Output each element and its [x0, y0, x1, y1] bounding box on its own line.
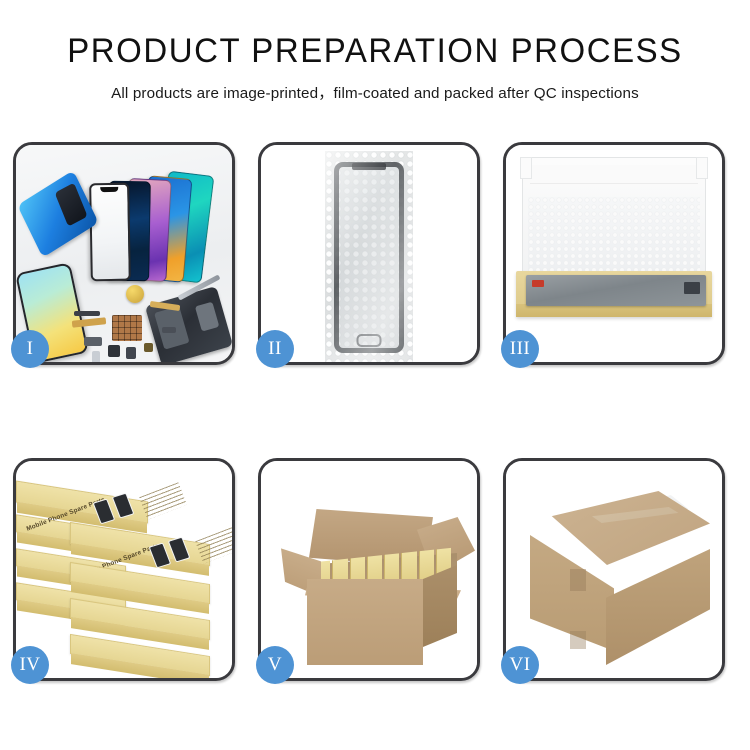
- step-3-image: [506, 145, 722, 362]
- step-badge-2: II: [256, 330, 294, 368]
- part-connector: [162, 327, 176, 333]
- step-badge-5: V: [256, 646, 294, 684]
- box-flap-left: [520, 157, 532, 179]
- part-camera: [108, 345, 120, 357]
- step-2-image: [261, 145, 477, 362]
- process-step-panel-5[interactable]: V: [258, 458, 480, 681]
- page-title: PRODUCT PREPARATION PROCESS: [11, 34, 739, 70]
- part-screw-pack: [144, 343, 153, 352]
- carton-seam-lower: [570, 631, 586, 649]
- phone-screen-fan: [86, 163, 232, 281]
- part-vibration-motor: [126, 285, 144, 303]
- process-step-panel-2[interactable]: II: [258, 142, 480, 365]
- carton-seam-upper: [570, 569, 586, 591]
- box-spec-lines-2: [195, 526, 232, 563]
- part-sim-tray: [92, 351, 100, 362]
- part-flex-cable: [72, 317, 107, 328]
- step-badge-3: III: [501, 330, 539, 368]
- process-step-panel-4[interactable]: Mobile Phone Spare Parts Mobile Phone Sp…: [13, 458, 235, 681]
- part-flex-cable-2: [150, 301, 181, 311]
- carton-side-face: [423, 565, 457, 647]
- carton-front-face: [307, 579, 423, 665]
- box-thumb: [112, 493, 135, 519]
- part-speaker: [126, 347, 136, 359]
- sealed-shipping-carton: [526, 491, 710, 661]
- part-strip: [74, 311, 100, 316]
- process-steps-grid: I II III: [13, 142, 737, 681]
- notch-icon: [100, 187, 118, 192]
- page-header: PRODUCT PREPARATION PROCESS All products…: [0, 0, 750, 103]
- box-spec-lines: [139, 482, 187, 519]
- step-badge-6: VI: [501, 646, 539, 684]
- spare-parts-cluster: [74, 293, 198, 362]
- step-badge-4: IV: [11, 646, 49, 684]
- process-step-panel-3[interactable]: III: [503, 142, 725, 365]
- process-step-panel-1[interactable]: I: [13, 142, 235, 365]
- carton-right-face: [606, 549, 710, 665]
- step-4-image: Mobile Phone Spare Parts Mobile Phone Sp…: [16, 461, 232, 678]
- step-5-image: [261, 461, 477, 678]
- packed-screen-assembly: [526, 275, 706, 306]
- step-1-image: [16, 145, 232, 362]
- box-flap-right: [696, 157, 708, 179]
- part-block: [84, 337, 102, 346]
- bubble-wrap-sheet: [325, 151, 413, 362]
- open-shipping-carton: [285, 503, 461, 669]
- step-6-image: [506, 461, 722, 678]
- wrapped-screen-glass: [334, 162, 404, 353]
- page-subtitle: All products are image-printed，film-coat…: [0, 81, 750, 103]
- retail-box-stack: Mobile Phone Spare Parts Mobile Phone Sp…: [16, 475, 232, 678]
- part-chip-grid: [112, 315, 142, 341]
- box-side: [71, 653, 209, 678]
- phone-screen-white: [89, 183, 131, 282]
- process-step-panel-6[interactable]: VI: [503, 458, 725, 681]
- step-badge-1: I: [11, 330, 49, 368]
